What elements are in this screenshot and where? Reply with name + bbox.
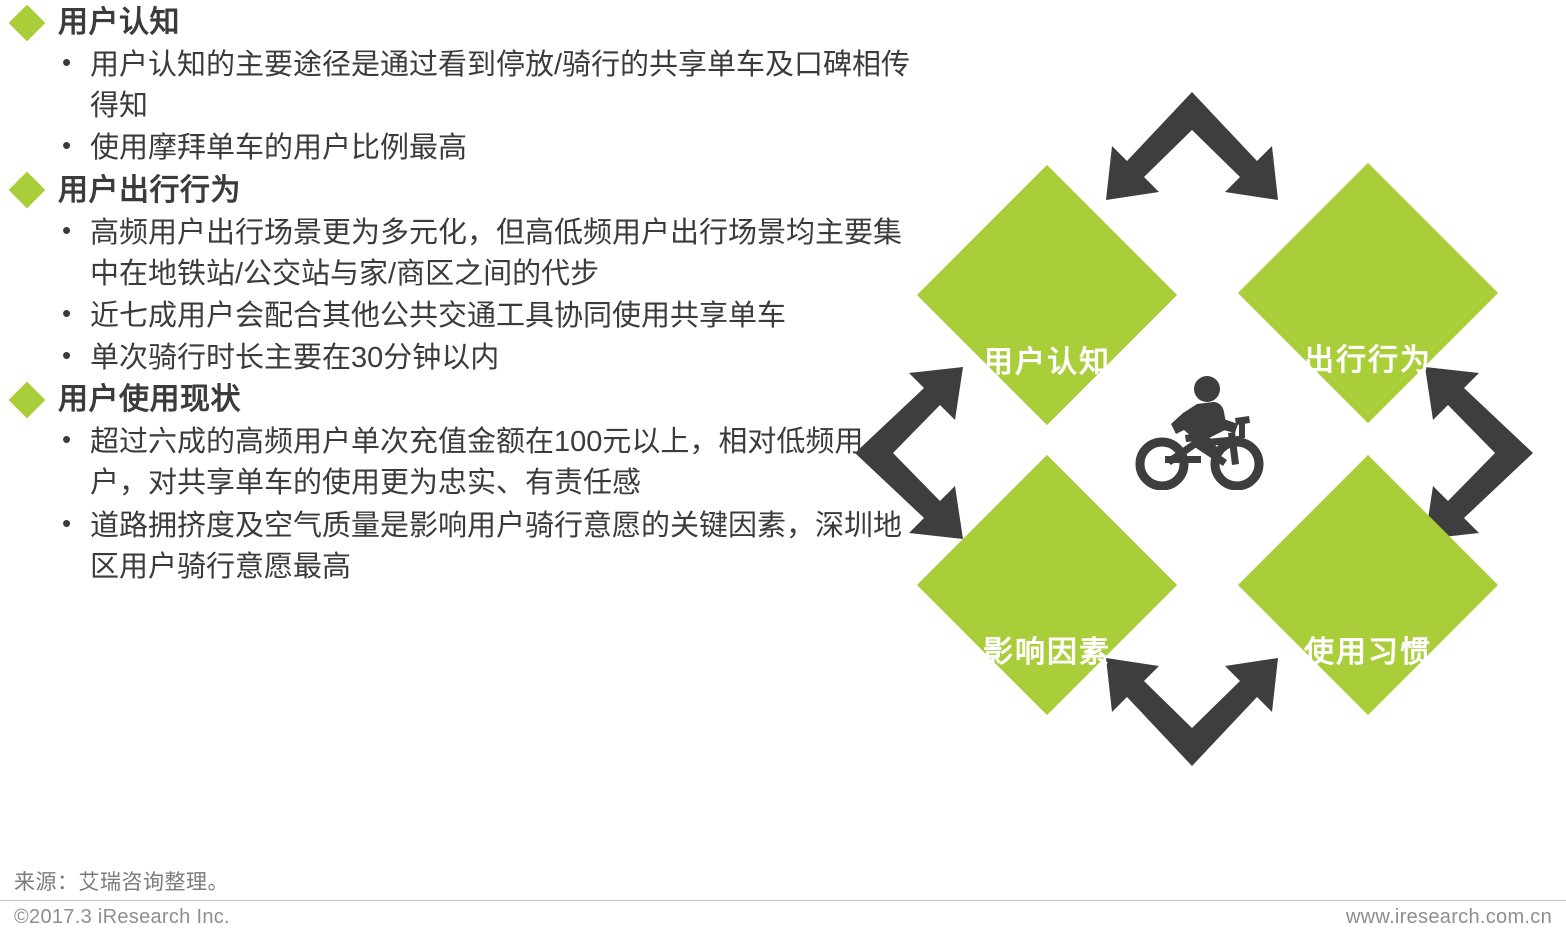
section-heading: 用户认知 <box>0 6 930 39</box>
list-item: 道路拥挤度及空气质量是影响用户骑行意愿的关键因素，深圳地区用户骑行意愿最高 <box>60 506 920 588</box>
bullet-list: 超过六成的高频用户单次充值金额在100元以上，相对低频用户，对共享单车的使用更为… <box>0 422 930 588</box>
double-arrow-left-split-icon <box>851 358 969 548</box>
diagram-node-label-factors: 影响因素 <box>922 627 1172 671</box>
section-heading: 用户使用现状 <box>0 383 930 416</box>
diamond-bullet-icon <box>9 172 46 209</box>
bullet-list: 用户认知的主要途径是通过看到停放/骑行的共享单车及口碑相传得知 使用摩拜单车的用… <box>0 45 930 170</box>
footer-divider <box>0 900 1566 901</box>
website-link[interactable]: www.iresearch.com.cn <box>1346 906 1552 929</box>
list-item: 单次骑行时长主要在30分钟以内 <box>60 338 920 379</box>
diagram-node-label-travel: 出行行为 <box>1243 335 1493 379</box>
section-heading: 用户出行行为 <box>0 174 930 207</box>
section-user-awareness: 用户认知 用户认知的主要途径是通过看到停放/骑行的共享单车及口碑相传得知 使用摩… <box>0 6 930 170</box>
section-user-travel-behavior: 用户出行行为 高频用户出行场景更为多元化，但高低频用户出行场景均主要集中在地铁站… <box>0 174 930 380</box>
cyclist-icon <box>1135 372 1265 490</box>
double-arrow-right-split-icon <box>1419 358 1537 548</box>
section-title: 用户认知 <box>58 6 180 39</box>
section-user-usage-status: 用户使用现状 超过六成的高频用户单次充值金额在100元以上，相对低频用户，对共享… <box>0 383 930 588</box>
diagram-node-label-habits: 使用习惯 <box>1243 627 1493 671</box>
cycle-diagram: 用户认知 出行行为 影响因素 使用习惯 <box>845 60 1560 800</box>
diamond-bullet-icon <box>9 381 46 418</box>
list-item: 超过六成的高频用户单次充值金额在100元以上，相对低频用户，对共享单车的使用更为… <box>60 422 920 504</box>
source-note: 来源：艾瑞咨询整理。 <box>14 866 229 896</box>
section-title: 用户出行行为 <box>58 174 241 207</box>
section-title: 用户使用现状 <box>58 383 241 416</box>
list-item: 近七成用户会配合其他公共交通工具协同使用共享单车 <box>60 296 920 337</box>
copyright-text: ©2017.3 iResearch Inc. <box>14 906 230 929</box>
diamond-bullet-icon <box>9 4 46 41</box>
content-column: 用户认知 用户认知的主要途径是通过看到停放/骑行的共享单车及口碑相传得知 使用摩… <box>0 0 930 850</box>
list-item: 用户认知的主要途径是通过看到停放/骑行的共享单车及口碑相传得知 <box>60 45 920 127</box>
list-item: 高频用户出行场景更为多元化，但高低频用户出行场景均主要集中在地铁站/公交站与家/… <box>60 213 920 295</box>
slide-canvas: 用户认知 用户认知的主要途径是通过看到停放/骑行的共享单车及口碑相传得知 使用摩… <box>0 0 1566 929</box>
bullet-list: 高频用户出行场景更为多元化，但高低频用户出行场景均主要集中在地铁站/公交站与家/… <box>0 213 930 380</box>
list-item: 使用摩拜单车的用户比例最高 <box>60 128 920 169</box>
double-arrow-down-split-icon <box>1097 88 1287 206</box>
